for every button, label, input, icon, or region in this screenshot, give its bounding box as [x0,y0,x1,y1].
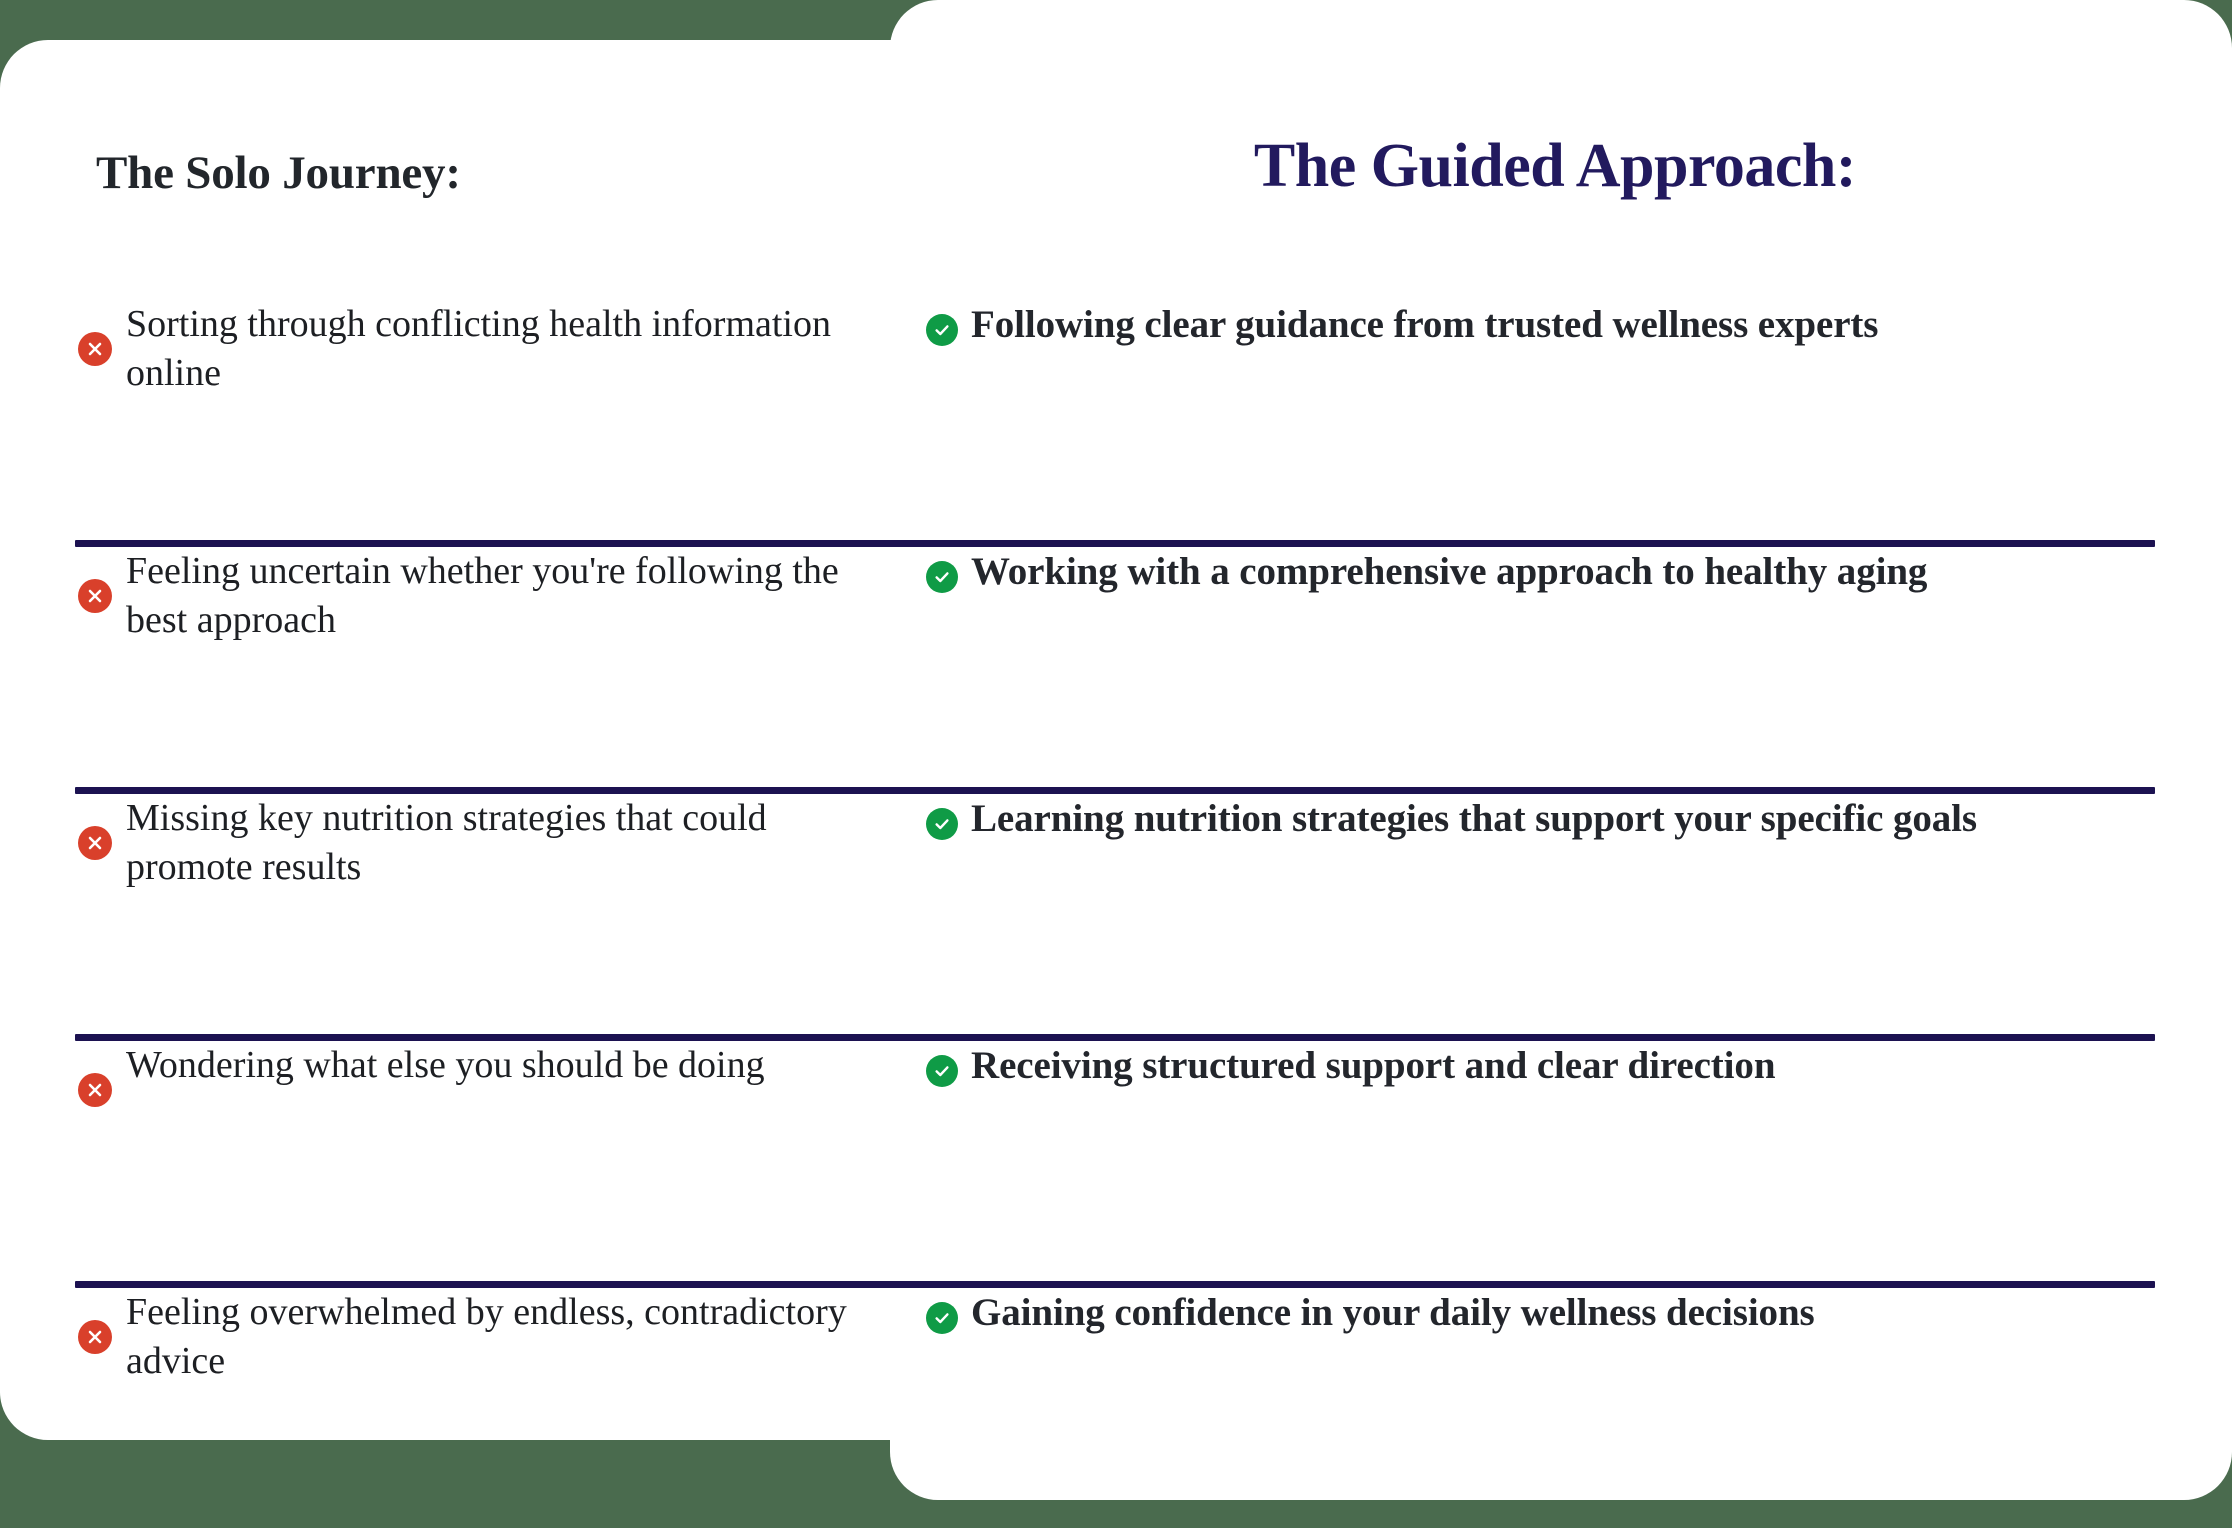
x-circle-icon [78,579,112,613]
x-circle-icon [78,1320,112,1354]
comparison-rows: Sorting through conflicting health infor… [0,300,2232,1528]
x-circle-icon [78,332,112,366]
left-item-text: Feeling overwhelmed by endless, contradi… [126,1288,870,1385]
left-column-title: The Solo Journey: [96,148,856,200]
comparison-content: The Solo Journey: The Guided Approach: S… [0,0,2232,1528]
left-item-text: Sorting through conflicting health infor… [126,300,870,397]
right-cell: Receiving structured support and clear d… [900,1041,2232,1092]
left-item-text: Missing key nutrition strategies that co… [126,794,870,891]
left-cell: Missing key nutrition strategies that co… [0,794,900,891]
comparison-row: Feeling overwhelmed by endless, contradi… [0,1288,2232,1528]
right-column-title: The Guided Approach: [940,132,2170,200]
left-item-text: Wondering what else you should be doing [126,1041,765,1090]
check-circle-icon [926,808,958,840]
right-item-text: Gaining confidence in your daily wellnes… [971,1288,1815,1339]
comparison-row: Wondering what else you should be doing … [0,1041,2232,1281]
comparison-row: Sorting through conflicting health infor… [0,300,2232,540]
right-item-text: Receiving structured support and clear d… [971,1041,1775,1092]
x-circle-icon [78,1073,112,1107]
right-item-text: Learning nutrition strategies that suppo… [971,794,1977,845]
x-circle-icon [78,826,112,860]
right-cell: Following clear guidance from trusted we… [900,300,2232,351]
check-circle-icon [926,561,958,593]
left-cell: Wondering what else you should be doing [0,1041,900,1107]
comparison-row: Missing key nutrition strategies that co… [0,794,2232,1034]
comparison-graphic: The Solo Journey: The Guided Approach: S… [0,0,2232,1528]
column-headers: The Solo Journey: The Guided Approach: [0,0,2232,240]
check-circle-icon [926,314,958,346]
row-divider [75,1034,2155,1041]
row-divider [75,1281,2155,1288]
left-cell: Feeling overwhelmed by endless, contradi… [0,1288,900,1385]
check-circle-icon [926,1302,958,1334]
row-divider [75,540,2155,547]
right-cell: Learning nutrition strategies that suppo… [900,794,2232,845]
comparison-row: Feeling uncertain whether you're followi… [0,547,2232,787]
right-item-text: Working with a comprehensive approach to… [971,547,1927,598]
right-cell: Working with a comprehensive approach to… [900,547,2232,598]
left-cell: Feeling uncertain whether you're followi… [0,547,900,644]
right-item-text: Following clear guidance from trusted we… [971,300,1878,351]
row-divider [75,787,2155,794]
left-item-text: Feeling uncertain whether you're followi… [126,547,870,644]
check-circle-icon [926,1055,958,1087]
left-cell: Sorting through conflicting health infor… [0,300,900,397]
right-cell: Gaining confidence in your daily wellnes… [900,1288,2232,1339]
